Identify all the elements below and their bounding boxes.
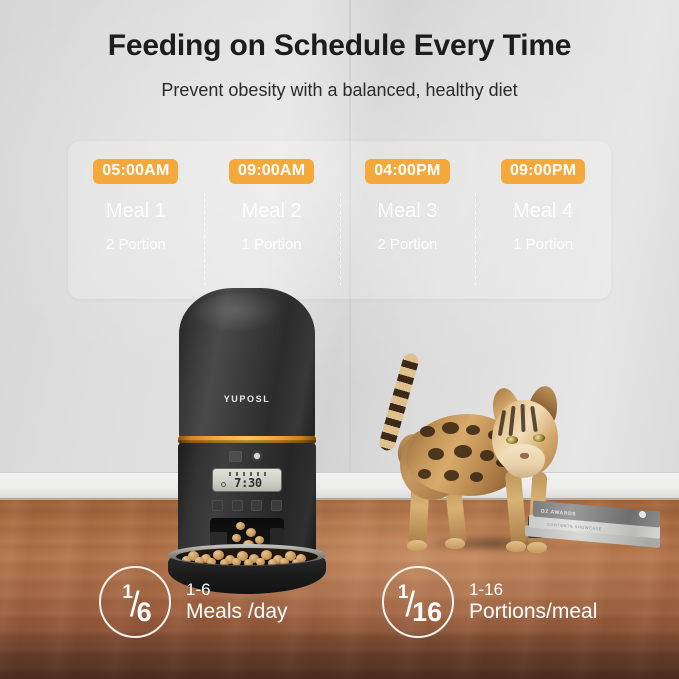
control-button-row[interactable] <box>212 500 282 511</box>
status-led-icon <box>254 453 260 459</box>
kibble-piece <box>244 559 253 565</box>
fraction-graphic: 1 / 16 <box>384 568 456 640</box>
meal-portion-label: 2 Portion <box>68 237 204 252</box>
fraction-denominator: 6 <box>137 597 152 628</box>
feeding-schedule-card: 05:00AM Meal 1 2 Portion 09:00AM Meal 2 … <box>68 141 611 299</box>
kibble-piece <box>292 559 301 565</box>
bowl-interior <box>176 548 318 565</box>
kibble-piece <box>207 558 216 565</box>
meal-column: 09:00AM Meal 2 1 Portion <box>204 141 340 299</box>
kibble-piece <box>182 556 191 564</box>
cat-paw <box>445 538 465 549</box>
camera-sensor-icon <box>229 451 242 462</box>
kibble-piece <box>268 559 277 565</box>
meal-label: Meal 3 <box>340 201 476 221</box>
meal-portion-label: 2 Portion <box>340 237 476 252</box>
meal-column: 04:00PM Meal 3 2 Portion <box>340 141 476 299</box>
lid-highlight <box>190 293 300 337</box>
plus-button-icon[interactable] <box>251 500 262 511</box>
feature-range-label: 1-6 <box>186 580 288 600</box>
kibble-piece <box>236 522 245 530</box>
kibble-piece <box>246 528 256 537</box>
kibble-piece <box>195 557 204 565</box>
cat-paw <box>407 540 427 551</box>
meal-label: Meal 2 <box>204 201 340 221</box>
feature-portions-per-meal: 1 / 16 1-16 Portions/meal <box>382 566 597 638</box>
meal-label: Meal 4 <box>475 201 611 221</box>
lcd-display: 7:30 <box>212 468 282 492</box>
feature-meals-per-day: 1 / 6 1-6 Meals /day <box>99 566 288 638</box>
book-cover-dot-icon <box>639 511 646 519</box>
fraction-denominator: 16 <box>412 597 442 628</box>
feature-unit-label: Meals /day <box>186 600 288 624</box>
power-button-icon[interactable] <box>271 500 282 511</box>
cat-front-leg-left <box>505 469 528 546</box>
meal-portion-label: 1 Portion <box>475 237 611 252</box>
kibble-piece <box>232 534 241 542</box>
meal-time-badge: 05:00AM <box>93 159 178 184</box>
page-subtitle: Prevent obesity with a balanced, healthy… <box>0 80 679 101</box>
kibble-piece <box>232 558 241 565</box>
page-title: Feeding on Schedule Every Time <box>0 29 679 63</box>
meal-time-badge: 09:00PM <box>501 159 585 184</box>
kibble-piece <box>255 536 264 544</box>
set-button-icon[interactable] <box>212 500 223 511</box>
fraction-circle-badge: 1 / 6 <box>99 566 171 638</box>
product-marketing-image: Feeding on Schedule Every Time Prevent o… <box>0 0 679 679</box>
meal-portion-label: 1 Portion <box>204 237 340 252</box>
fraction-graphic: 1 / 6 <box>101 568 173 640</box>
feature-range-label: 1-16 <box>469 580 597 600</box>
cat-eye-left <box>506 436 518 444</box>
minus-button-icon[interactable] <box>232 500 243 511</box>
cat-nose <box>520 453 529 459</box>
kibble-piece <box>280 558 289 565</box>
brand-logo-text: YUPOSL <box>179 394 315 404</box>
feature-unit-label: Portions/meal <box>469 600 597 624</box>
lcd-time-readout: 7:30 <box>213 476 282 490</box>
cat-paw <box>506 541 526 552</box>
meal-time-badge: 09:00AM <box>229 159 314 184</box>
feature-text-block: 1-6 Meals /day <box>186 580 288 624</box>
cat-eye-right <box>533 434 545 442</box>
automatic-pet-feeder: YUPOSL 7:30 <box>166 288 328 584</box>
stacked-books: CONTENTS SHOWCASE DZ AWARDS <box>525 506 660 548</box>
meal-label: Meal 1 <box>68 201 204 221</box>
feature-text-block: 1-16 Portions/meal <box>469 580 597 624</box>
meal-column: 05:00AM Meal 1 2 Portion <box>68 141 204 299</box>
fraction-circle-badge: 1 / 16 <box>382 566 454 638</box>
meal-time-badge: 04:00PM <box>365 159 449 184</box>
kibble-piece <box>256 558 265 565</box>
meal-column: 09:00PM Meal 4 1 Portion <box>475 141 611 299</box>
kibble-piece <box>220 559 229 565</box>
